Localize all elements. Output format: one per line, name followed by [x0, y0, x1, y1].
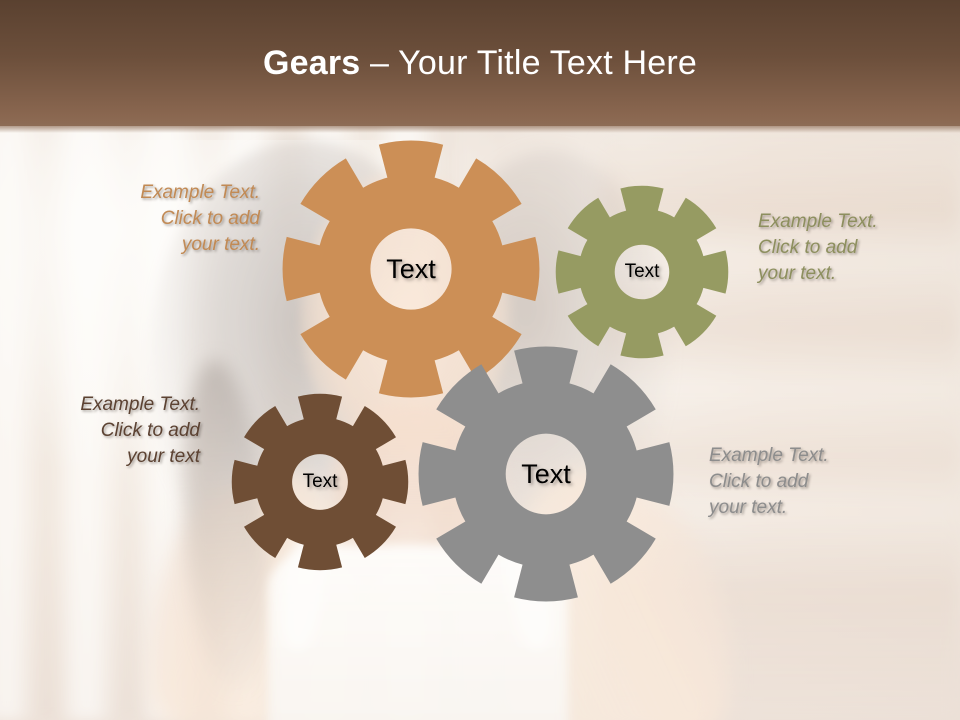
- caption-bottom-right[interactable]: Example Text. Click to add your text.: [709, 443, 909, 521]
- slide-canvas: Gears – Your Title Text Here Example Tex…: [0, 0, 960, 720]
- page-title-rest: – Your Title Text Here: [360, 44, 697, 82]
- caption-top-left[interactable]: Example Text. Click to add your text.: [60, 180, 260, 258]
- gear-brown[interactable]: Text: [230, 392, 410, 572]
- page-title: Gears – Your Title Text Here: [0, 42, 960, 84]
- gear-green[interactable]: Text: [554, 184, 730, 360]
- gear-green-icon: [554, 184, 730, 360]
- gear-gray-icon: [416, 344, 676, 604]
- caption-bottom-left[interactable]: Example Text. Click to add your text: [20, 392, 200, 470]
- caption-top-right[interactable]: Example Text. Click to add your text.: [758, 209, 958, 287]
- gear-gray[interactable]: Text: [416, 344, 676, 604]
- page-title-bold: Gears: [263, 44, 360, 82]
- title-bar: Gears – Your Title Text Here: [0, 0, 960, 126]
- gear-brown-icon: [230, 392, 410, 572]
